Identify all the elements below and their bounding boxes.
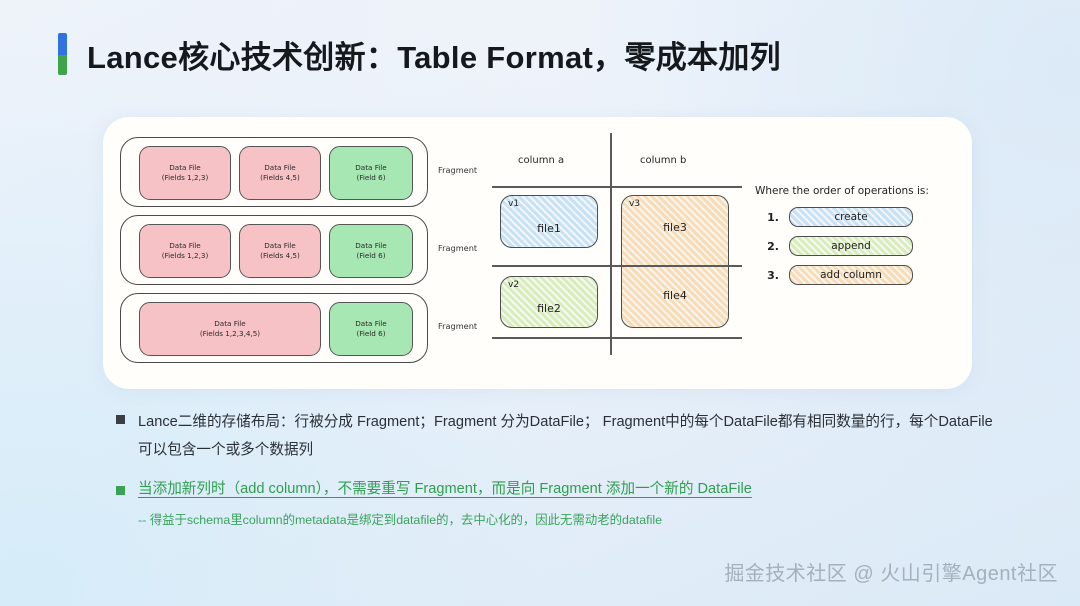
bullet-square-icon (116, 486, 125, 495)
bullet-body: Lance二维的存储布局：行被分成 Fragment；Fragment 分为Da… (138, 408, 996, 465)
legend-number: 3. (755, 269, 779, 282)
diagram-card: Data File (Fields 1,2,3) Data File (Fiel… (103, 117, 972, 389)
file-name: file1 (501, 222, 597, 235)
data-file-title: Data File (355, 319, 386, 329)
fragment-row: Data File (Fields 1,2,3) Data File (Fiel… (120, 137, 428, 207)
data-file-title: Data File (169, 163, 200, 173)
file-name: file4 (622, 289, 728, 302)
slide-root: Lance核心技术创新：Table Format，零成本加列 Data File… (0, 0, 1080, 606)
file-name: file3 (622, 221, 728, 234)
grid-horizontal-line-middle (492, 265, 742, 267)
data-file-fields: (Fields 1,2,3,4,5) (200, 329, 260, 339)
data-file-fields: (Fields 4,5) (260, 173, 300, 183)
bullet-text-highlight: 当添加新列时（add column），不需要重写 Fragment，而是向 Fr… (138, 479, 996, 501)
legend-item-create: 1. create (755, 207, 965, 227)
title-text: Lance核心技术创新：Table Format，零成本加列 (87, 32, 781, 77)
bullet-square-icon (116, 415, 125, 424)
data-file-title: Data File (355, 241, 386, 251)
data-file-title: Data File (169, 241, 200, 251)
legend-chip-label: create (789, 207, 913, 227)
version-grid-panel: column a column b v3 file3 file4 v1 file… (488, 133, 753, 373)
data-file-fields: (Fields 4,5) (260, 251, 300, 261)
legend-number: 1. (755, 211, 779, 224)
fragment-label: Fragment (438, 243, 477, 253)
legend-chip-label: append (789, 236, 913, 256)
fragment-row: Data File (Fields 1,2,3) Data File (Fiel… (120, 215, 428, 285)
data-file-fields: (Fields 1,2,3) (162, 251, 209, 261)
column-b-header: column b (640, 155, 686, 166)
title-accent-bar (58, 33, 67, 75)
data-file-box: Data File (Fields 1,2,3) (139, 224, 231, 278)
legend-title: Where the order of operations is: (755, 185, 965, 197)
legend-chip-label: add column (789, 265, 913, 285)
operations-legend: Where the order of operations is: 1. cre… (755, 185, 965, 294)
data-file-fields: (Field 6) (356, 173, 385, 183)
grid-horizontal-line-top (492, 186, 742, 188)
legend-number: 2. (755, 240, 779, 253)
fragments-panel: Data File (Fields 1,2,3) Data File (Fiel… (112, 133, 472, 373)
data-file-box: Data File (Fields 4,5) (239, 224, 321, 278)
bullet-body: 当添加新列时（add column），不需要重写 Fragment，而是向 Fr… (138, 479, 996, 530)
page-title: Lance核心技术创新：Table Format，零成本加列 (58, 28, 781, 80)
data-file-fields: (Field 6) (356, 251, 385, 261)
data-file-title: Data File (264, 163, 295, 173)
bullet-text: Lance二维的存储布局：行被分成 Fragment；Fragment 分为Da… (138, 408, 996, 465)
data-file-box: Data File (Fields 4,5) (239, 146, 321, 200)
data-file-title: Data File (264, 241, 295, 251)
data-file-box: Data File (Field 6) (329, 302, 413, 356)
data-file-box: Data File (Field 6) (329, 224, 413, 278)
column-a-header: column a (518, 155, 564, 166)
bullet-subtext: -- 得益于schema里column的metadata是绑定到datafile… (138, 511, 996, 530)
bullet-item-storage-layout: Lance二维的存储布局：行被分成 Fragment；Fragment 分为Da… (116, 408, 996, 465)
data-file-title: Data File (214, 319, 245, 329)
version-label: v1 (508, 199, 519, 209)
file-name: file2 (501, 302, 597, 315)
data-file-box: Data File (Field 6) (329, 146, 413, 200)
data-file-fields: (Fields 1,2,3) (162, 173, 209, 183)
bullet-item-add-column: 当添加新列时（add column），不需要重写 Fragment，而是向 Fr… (116, 479, 996, 530)
fragment-row: Data File (Fields 1,2,3,4,5) Data File (… (120, 293, 428, 363)
version-box-v3: v3 file3 file4 (621, 195, 729, 328)
data-file-fields: (Field 6) (356, 329, 385, 339)
version-label: v3 (629, 199, 640, 209)
data-file-box: Data File (Fields 1,2,3,4,5) (139, 302, 321, 356)
watermark: 掘金技术社区 @ 火山引擎Agent社区 (724, 557, 1058, 586)
bullet-list: Lance二维的存储布局：行被分成 Fragment；Fragment 分为Da… (116, 408, 996, 529)
grid-horizontal-line-bottom (492, 337, 742, 339)
version-label: v2 (508, 280, 519, 290)
grid-vertical-line (610, 133, 612, 355)
legend-item-append: 2. append (755, 236, 965, 256)
fragment-label: Fragment (438, 321, 477, 331)
fragment-label: Fragment (438, 165, 477, 175)
legend-item-add-column: 3. add column (755, 265, 965, 285)
data-file-box: Data File (Fields 1,2,3) (139, 146, 231, 200)
version-box-v1: v1 file1 (500, 195, 598, 248)
data-file-title: Data File (355, 163, 386, 173)
version-box-v2: v2 file2 (500, 276, 598, 328)
